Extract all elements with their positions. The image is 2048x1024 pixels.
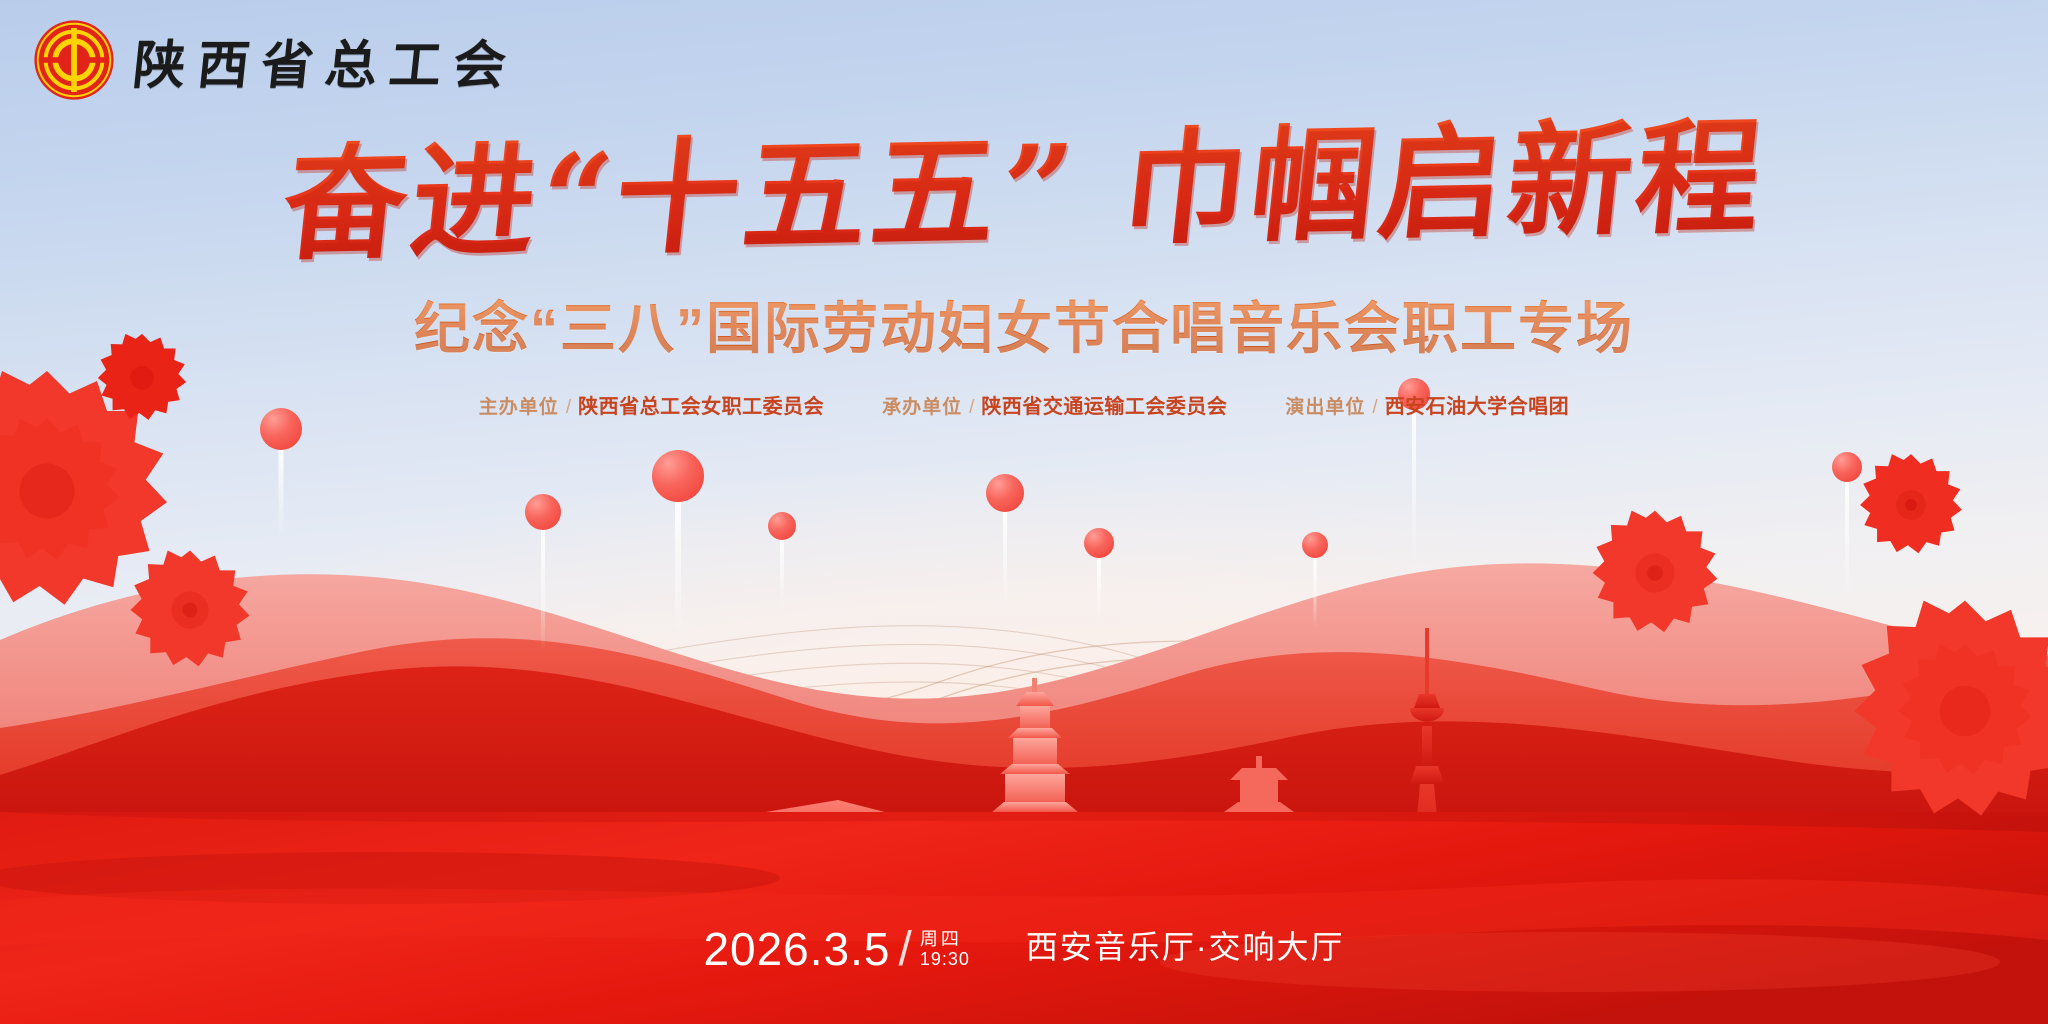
credit-item-host: 承办单位 / 陕西省交通运输工会委员会 xyxy=(882,390,1227,419)
main-title: 奋进“十五五” 巾帼启新程 xyxy=(277,112,1772,272)
date-separator: / xyxy=(899,926,912,974)
balloon-dot xyxy=(1084,528,1114,558)
event-venue: 西安音乐厅·交响大厅 xyxy=(1026,922,1345,972)
credit-org: 陕西省总工会女职工委员会 xyxy=(578,390,824,419)
balloon-dot xyxy=(986,474,1024,512)
rosette-flower-icon xyxy=(128,548,252,672)
balloon-dot xyxy=(525,494,561,530)
event-weekday: 周四 xyxy=(920,929,970,949)
credit-item-performer: 演出单位 / 西安石油大学合唱团 xyxy=(1285,390,1569,419)
acftu-emblem-icon xyxy=(34,20,114,100)
balloon-dot xyxy=(768,512,796,540)
main-title-container: 奋进“十五五” 巾帼启新程 xyxy=(0,126,2048,257)
poster-canvas: 陕西省总工会 奋进“十五五” 巾帼启新程 纪念“三八”国际劳动妇女节合唱音乐会职… xyxy=(0,0,2048,1024)
organization-name: 陕西省总工会 xyxy=(130,23,522,98)
event-time: 19:30 xyxy=(920,949,970,969)
subtitle-container: 纪念“三八”国际劳动妇女节合唱音乐会职工专场 xyxy=(0,284,2048,365)
credit-role: 演出单位 xyxy=(1285,392,1365,419)
credit-role: 主办单位 xyxy=(479,392,559,419)
credit-slash: / xyxy=(566,397,571,419)
event-date: 2026.3.5 xyxy=(703,926,890,972)
credit-slash: / xyxy=(969,397,974,419)
rosette-flower-icon xyxy=(1590,508,1720,638)
rosette-flower-icon xyxy=(1858,452,1964,558)
balloon-dot xyxy=(1832,452,1862,482)
subtitle: 纪念“三八”国际劳动妇女节合唱音乐会职工专场 xyxy=(414,284,1634,365)
credit-item-organizer: 主办单位 / 陕西省总工会女职工委员会 xyxy=(479,390,824,419)
balloon-dot xyxy=(652,450,704,502)
credit-org: 西安石油大学合唱团 xyxy=(1385,390,1570,419)
credits-row: 主办单位 / 陕西省总工会女职工委员会 承办单位 / 陕西省交通运输工会委员会 … xyxy=(0,390,2048,419)
organization-logo: 陕西省总工会 xyxy=(34,20,518,100)
rosette-flower-icon xyxy=(1850,596,2048,826)
event-info-row: 2026.3.5 / 周四 19:30 西安音乐厅·交响大厅 xyxy=(0,922,2048,972)
balloon-dot xyxy=(1302,532,1328,558)
event-weekday-time: 周四 19:30 xyxy=(920,929,970,972)
credit-role: 承办单位 xyxy=(882,392,962,419)
foreground-ground xyxy=(0,812,2048,1024)
credit-org: 陕西省交通运输工会委员会 xyxy=(981,390,1227,419)
event-date-block: 2026.3.5 / 周四 19:30 xyxy=(703,924,969,972)
credit-slash: / xyxy=(1372,397,1377,419)
